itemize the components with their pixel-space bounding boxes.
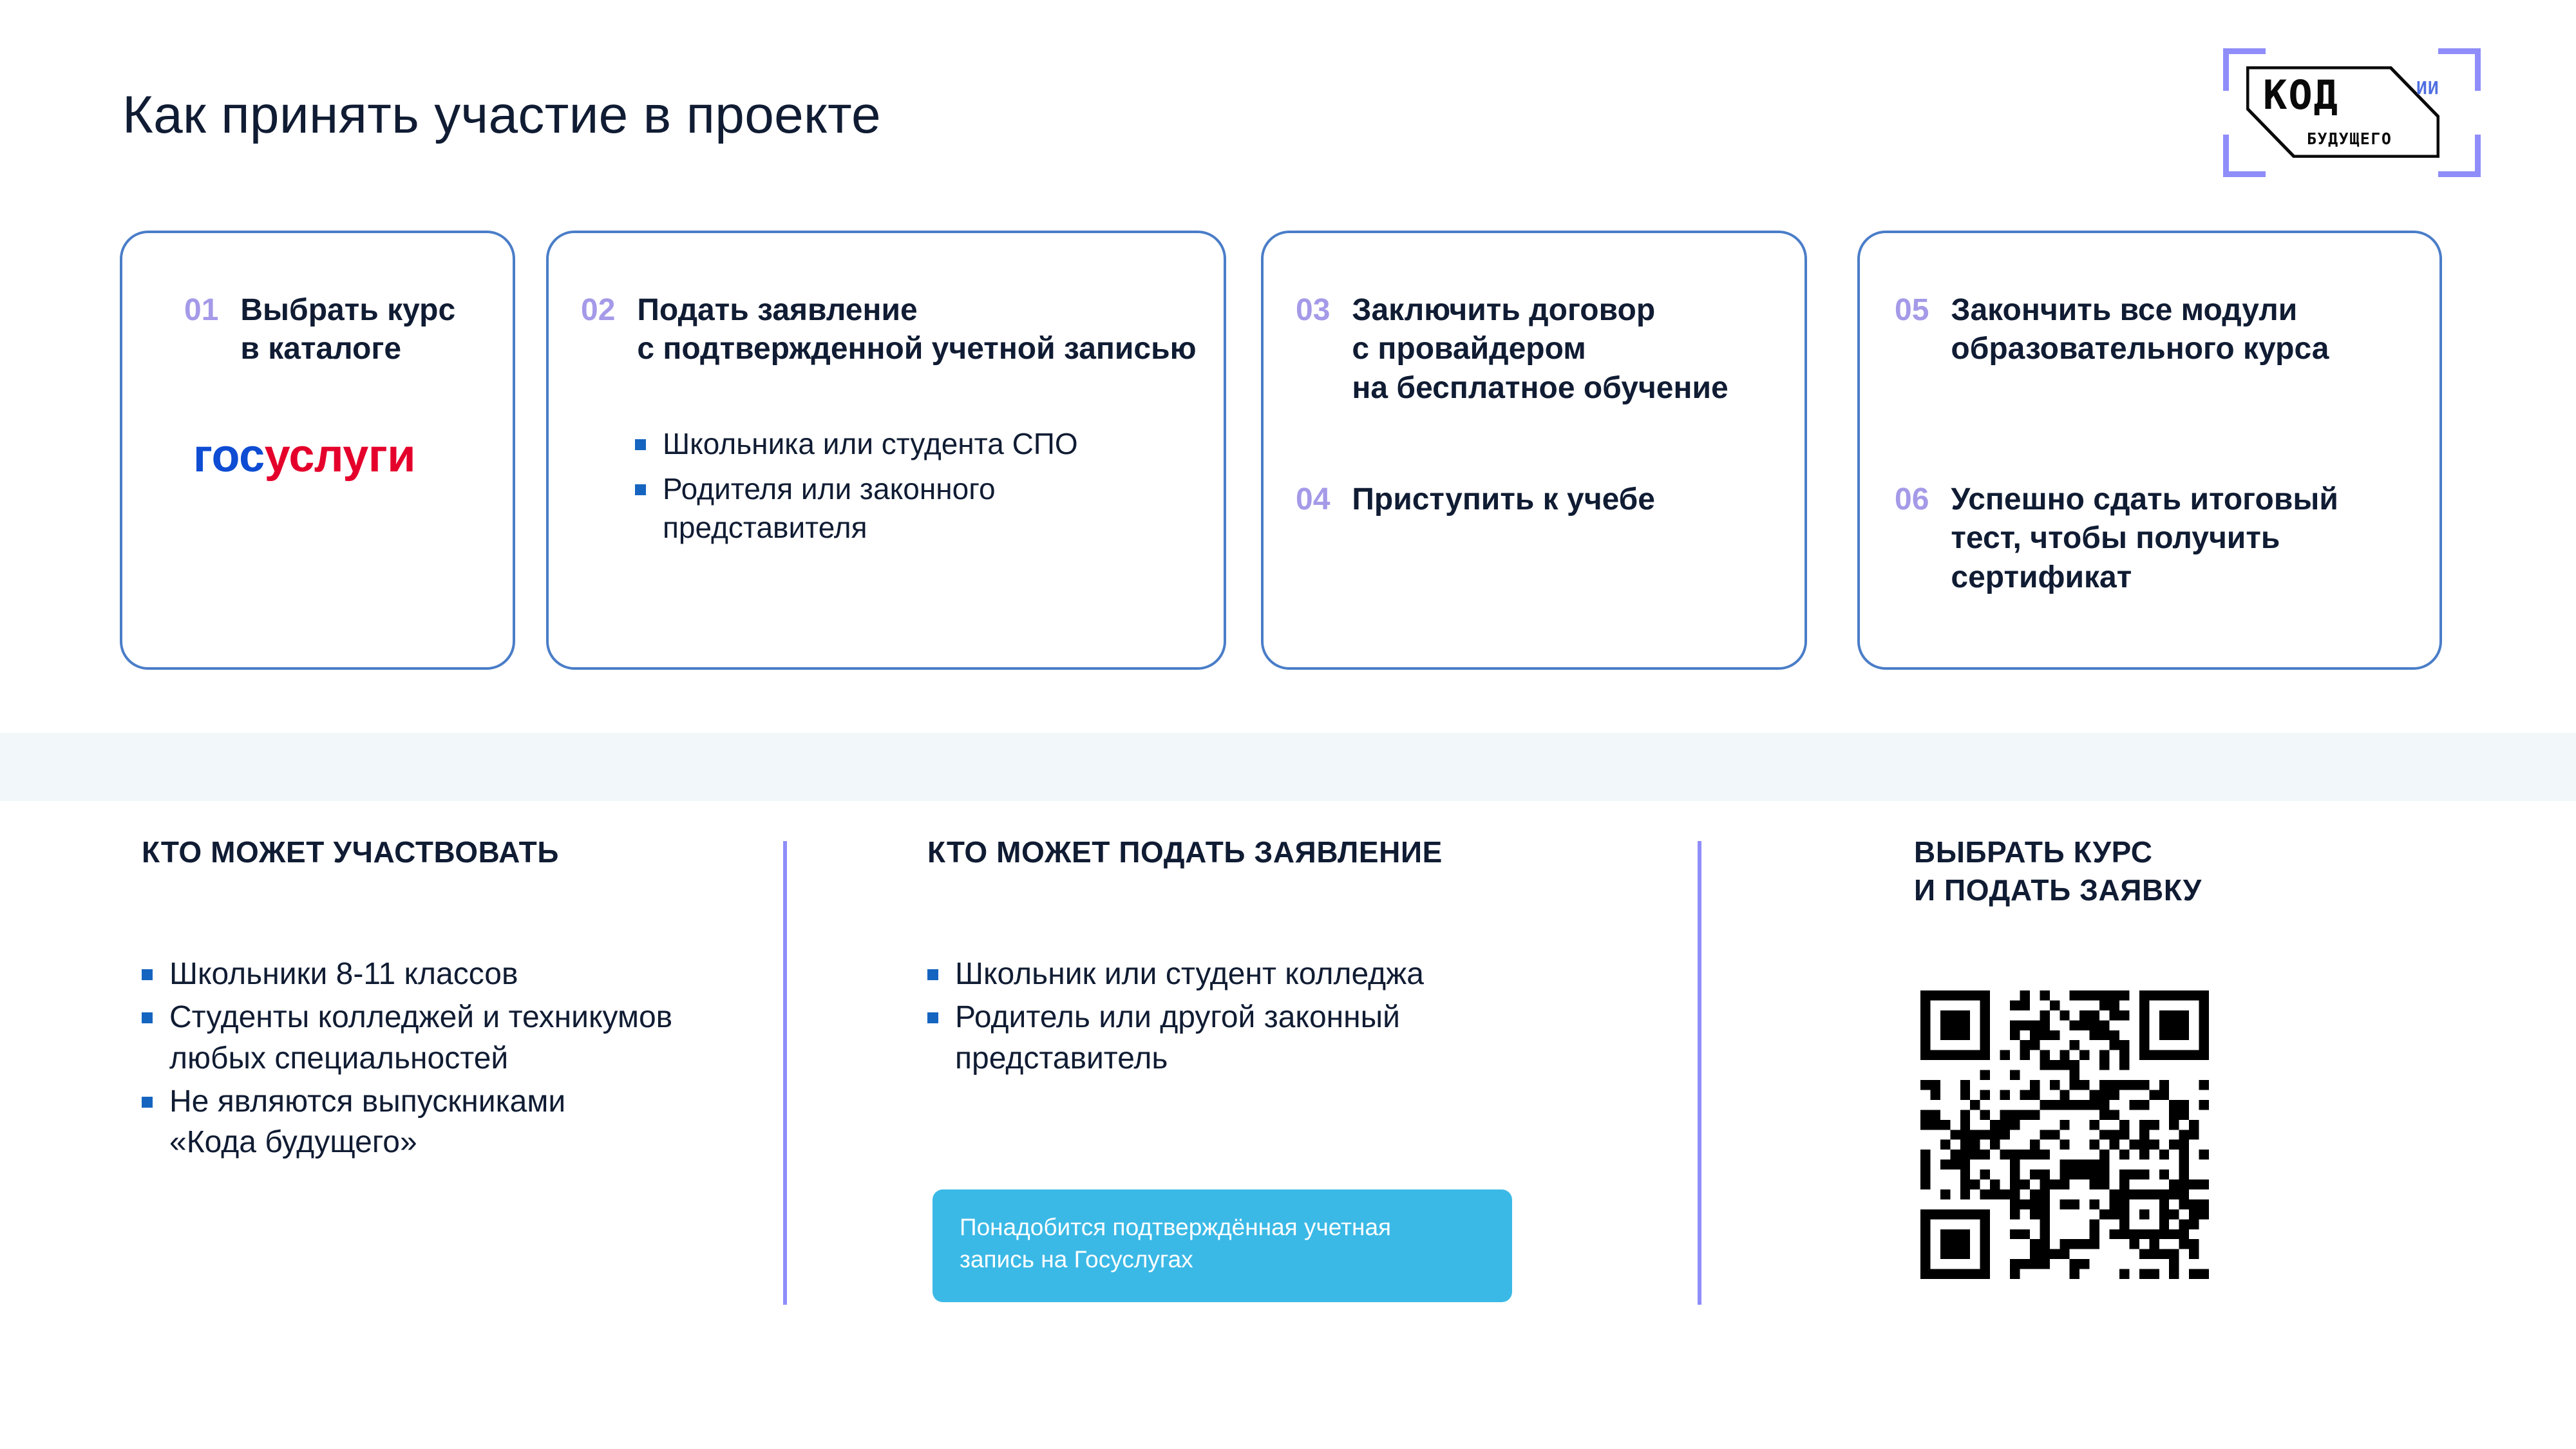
info-column-who-can-participate: КТО МОЖЕТ УЧАСТВОВАТЬ Школьники 8-11 кла… (142, 801, 747, 1166)
qr-code[interactable] (1920, 990, 2209, 1279)
square-bullet-icon (927, 1012, 938, 1023)
step-label: Выбрать курс в каталоге (240, 291, 455, 369)
info-column-choose-course: ВЫБРАТЬ КУРС И ПОДАТЬ ЗАЯВКУ (1914, 801, 2494, 909)
column-bullet-list: Школьники 8-11 классов Студенты колледже… (142, 954, 747, 1163)
info-column-who-can-apply: КТО МОЖЕТ ПОДАТЬ ЗАЯВЛЕНИЕ Школьник или … (927, 801, 1649, 1081)
list-item: Родителя или законного представителя (635, 470, 1189, 547)
step-number: 01 (184, 291, 218, 330)
step-item-04: 04 Приступить к учебе (1296, 480, 1655, 519)
step-item-01: 01 Выбрать курс в каталоге (184, 291, 455, 369)
slide-root: Как принять участие в проекте КОД БУДУЩЕ… (0, 0, 2576, 1449)
callout-text: Понадобится подтверждённая учетная запис… (960, 1211, 1486, 1276)
list-item: Не являются выпускниками «Кода будущего» (142, 1081, 747, 1163)
section-divider-band (0, 733, 2576, 801)
column-title: КТО МОЖЕТ УЧАСТВОВАТЬ (142, 833, 747, 871)
step-card-1: 01 Выбрать курс в каталоге госуслуги (120, 231, 515, 670)
list-item-label: Школьники 8-11 классов (169, 954, 518, 994)
step-number: 02 (581, 291, 615, 330)
list-item: Школьники 8-11 классов (142, 954, 747, 994)
list-item-label: Родитель или другой законный представите… (955, 997, 1400, 1079)
callout-banner-verified-account: Понадобится подтверждённая учетная запис… (933, 1189, 1512, 1302)
step-card-2-bullet-list: Школьника или студента СПО Родителя или … (635, 425, 1189, 553)
vertical-divider-1 (783, 841, 787, 1305)
column-bullet-list: Школьник или студент колледжа Родитель и… (927, 954, 1649, 1079)
step-number: 05 (1895, 291, 1929, 330)
list-item: Родитель или другой законный представите… (927, 997, 1649, 1079)
steps-card-row: 01 Выбрать курс в каталоге госуслуги 02 … (0, 0, 2576, 708)
step-label: Закончить все модули образовательного ку… (1951, 291, 2329, 369)
list-item-label: Школьника или студента СПО (663, 425, 1078, 464)
step-item-02: 02 Подать заявление с подтвержденной уче… (581, 291, 1197, 369)
gosuslugi-logo: госуслуги (193, 433, 415, 479)
square-bullet-icon (142, 969, 153, 980)
step-label: Успешно сдать итоговый тест, чтобы получ… (1951, 480, 2338, 597)
gosuslugi-logo-red-part: услуги (265, 430, 415, 482)
step-item-03: 03 Заключить договор с провайдером на бе… (1296, 291, 1728, 408)
column-title: ВЫБРАТЬ КУРС И ПОДАТЬ ЗАЯВКУ (1914, 833, 2494, 909)
square-bullet-icon (142, 1012, 153, 1023)
step-card-4: 05 Закончить все модули образовательного… (1857, 231, 2442, 670)
square-bullet-icon (142, 1097, 153, 1108)
step-label: Приступить к учебе (1352, 480, 1655, 519)
list-item: Студенты колледжей и техникумов любых сп… (142, 997, 747, 1079)
step-card-2: 02 Подать заявление с подтвержденной уче… (546, 231, 1226, 670)
list-item-label: Не являются выпускниками «Кода будущего» (169, 1081, 565, 1163)
square-bullet-icon (927, 969, 938, 980)
column-title: КТО МОЖЕТ ПОДАТЬ ЗАЯВЛЕНИЕ (927, 833, 1649, 871)
step-label: Подать заявление с подтвержденной учетно… (637, 291, 1196, 369)
step-label: Заключить договор с провайдером на беспл… (1352, 291, 1728, 408)
gosuslugi-logo-blue-part: гос (193, 430, 265, 482)
vertical-divider-2 (1698, 841, 1701, 1305)
step-item-06: 06 Успешно сдать итоговый тест, чтобы по… (1895, 480, 2338, 597)
step-card-3: 03 Заключить договор с провайдером на бе… (1261, 231, 1807, 670)
step-number: 06 (1895, 480, 1929, 519)
list-item: Школьник или студент колледжа (927, 954, 1649, 994)
list-item-label: Школьник или студент колледжа (955, 954, 1424, 994)
square-bullet-icon (635, 484, 646, 495)
step-item-05: 05 Закончить все модули образовательного… (1895, 291, 2329, 369)
list-item: Школьника или студента СПО (635, 425, 1189, 464)
bottom-section: КТО МОЖЕТ УЧАСТВОВАТЬ Школьники 8-11 кла… (0, 801, 2576, 1449)
step-number: 04 (1296, 480, 1330, 519)
list-item-label: Студенты колледжей и техникумов любых сп… (169, 997, 672, 1079)
square-bullet-icon (635, 439, 646, 450)
list-item-label: Родителя или законного представителя (663, 470, 996, 547)
step-number: 03 (1296, 291, 1330, 330)
